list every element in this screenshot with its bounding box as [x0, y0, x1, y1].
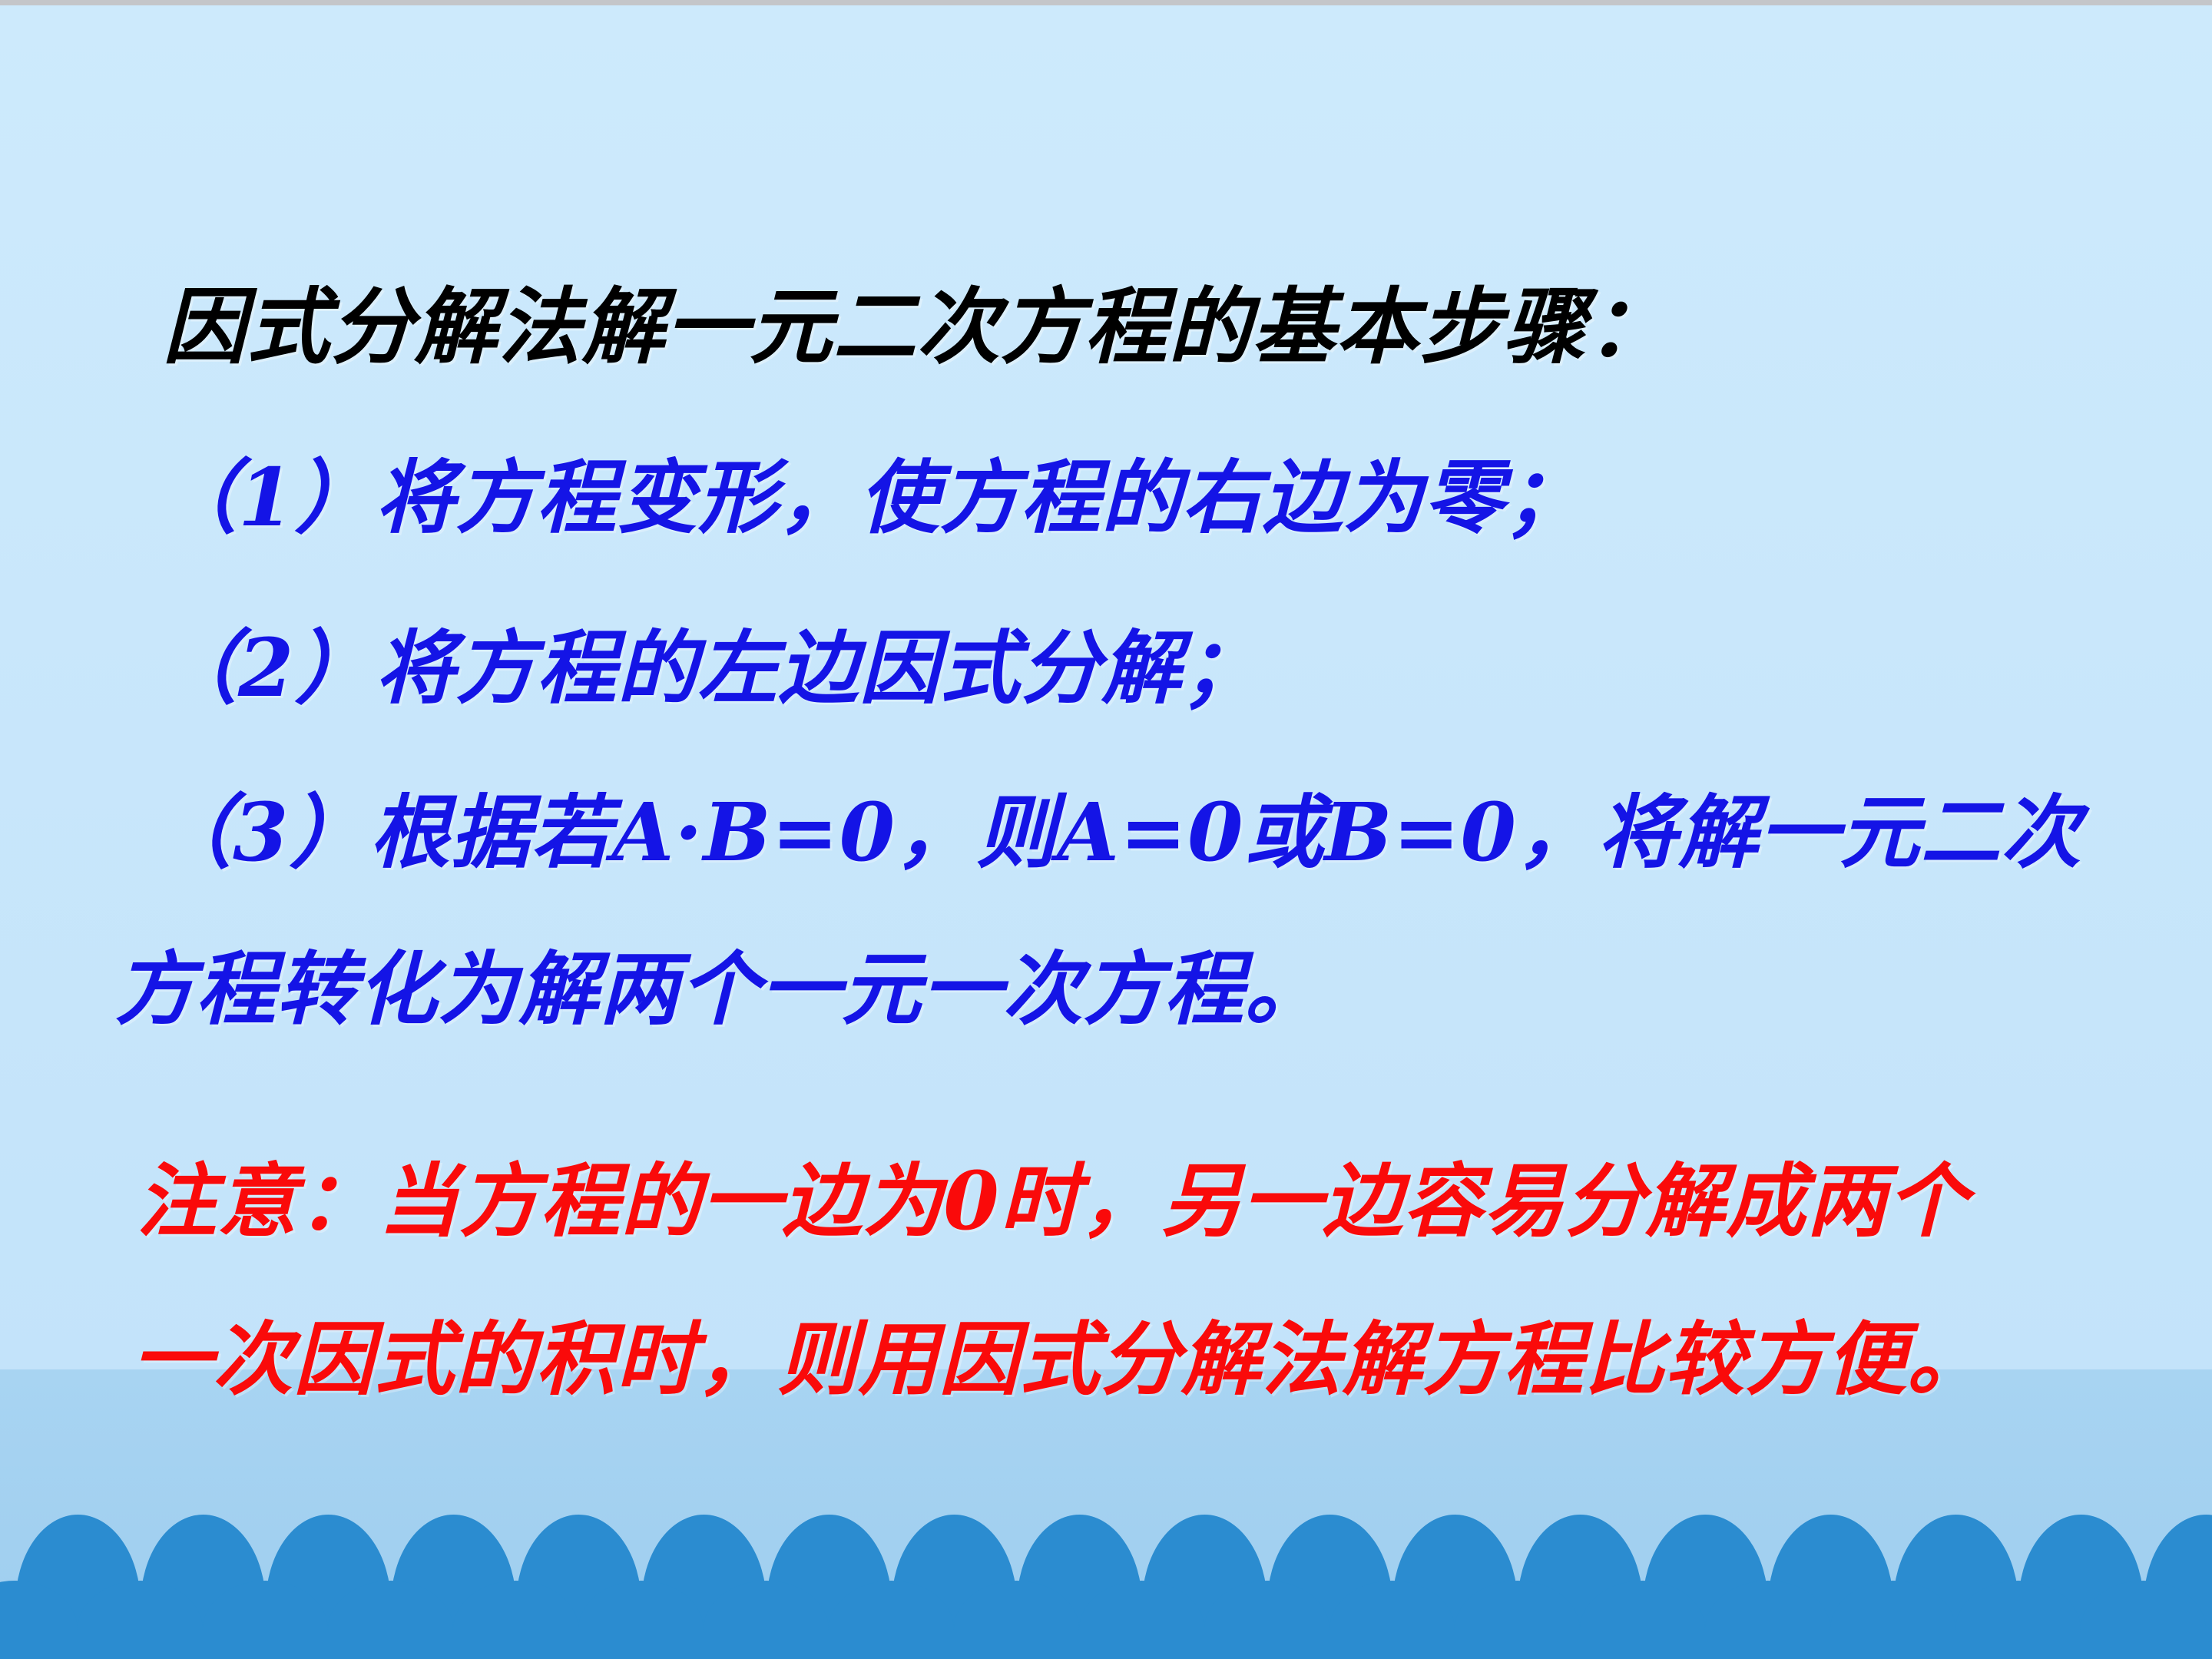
step-line-3: （3）根据若A·B=0，则A=0或B=0，将解一元二次 — [152, 793, 2081, 873]
step-line-4: 方程转化为解两个一元一次方程。 — [115, 949, 1326, 1029]
slide-title: 因式分解法解一元二次方程的基本步骤： — [163, 286, 1671, 369]
window-frame-edge — [0, 0, 2212, 5]
slide-canvas: 因式分解法解一元二次方程的基本步骤： （1）将方程变形，使方程的右边为零； （2… — [0, 0, 2212, 1659]
step-line-2: （2）将方程的左边因式分解； — [157, 628, 1263, 708]
note-line-1: 注意：当方程的一边为0时，另一边容易分解成两个 — [137, 1161, 1968, 1241]
step-line-1: （1）将方程变形，使方程的右边为零； — [157, 458, 1585, 538]
note-line-2: 一次因式的积时，则用因式分解法解方程比较方便。 — [132, 1320, 1988, 1399]
slide-content: 因式分解法解一元二次方程的基本步骤： （1）将方程变形，使方程的右边为零； （2… — [0, 0, 2212, 1659]
